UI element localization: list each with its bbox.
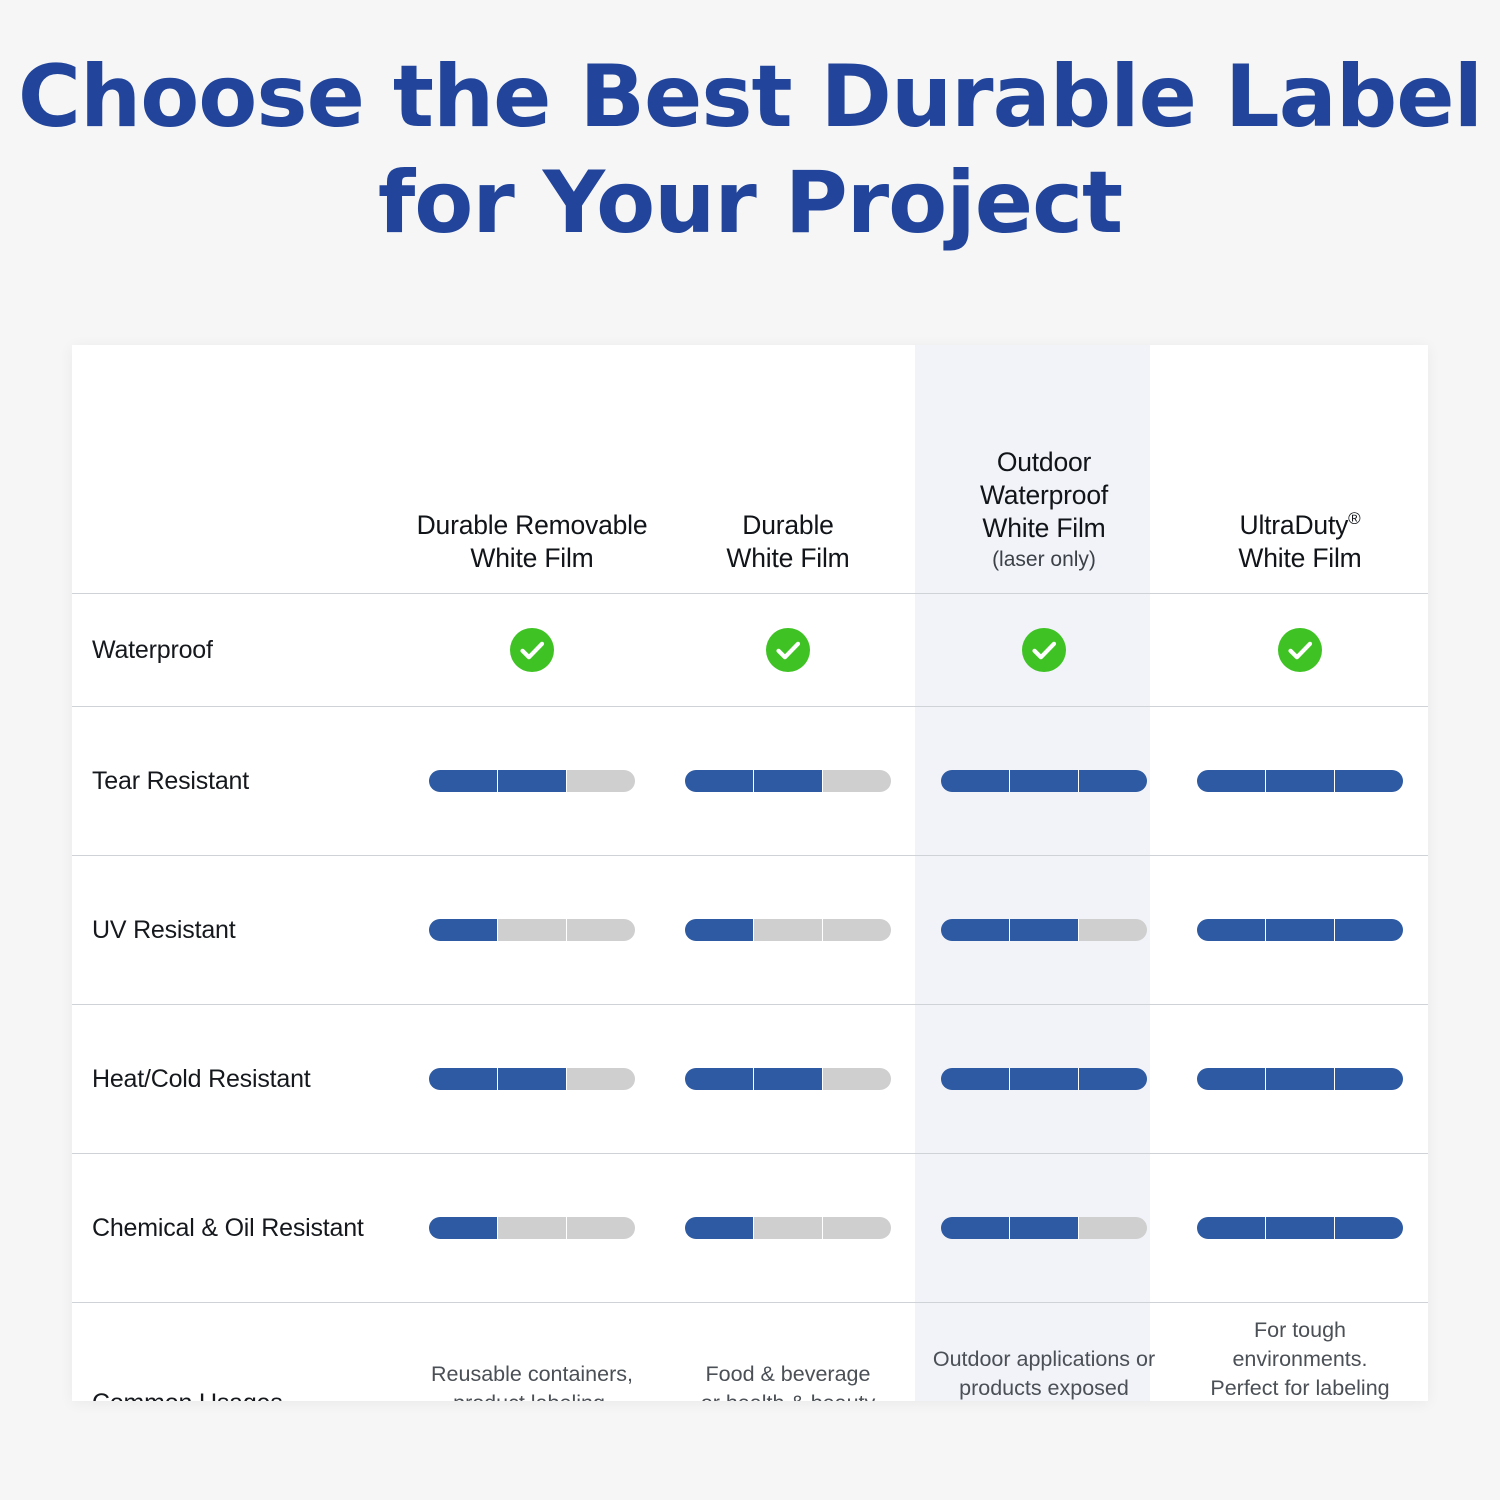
comparison-infographic: Choose the Best Durable Label for Your P… bbox=[0, 0, 1500, 1500]
column-header-line-2: White Film bbox=[404, 542, 660, 575]
row-label: Heat/Cold Resistant bbox=[72, 1005, 404, 1154]
cell-tear-col4 bbox=[1172, 707, 1428, 856]
rating-segment bbox=[1197, 1068, 1266, 1090]
cell-usage-col4: For tough environments.Perfect for label… bbox=[1172, 1303, 1428, 1402]
rating-segment bbox=[1010, 1217, 1079, 1239]
check-icon bbox=[1278, 628, 1322, 672]
rating-segment bbox=[429, 1217, 498, 1239]
column-header-line-2: White Film bbox=[1172, 542, 1428, 575]
rating-segment bbox=[1079, 1217, 1147, 1239]
rating-bar bbox=[1197, 1217, 1403, 1239]
rating-segment bbox=[823, 1217, 891, 1239]
check-icon bbox=[766, 628, 810, 672]
rating-segment bbox=[498, 1068, 567, 1090]
cell-usage-col1: Reusable containers,product labeling,and… bbox=[404, 1303, 660, 1402]
rating-segment bbox=[823, 770, 891, 792]
rating-segment bbox=[1266, 919, 1335, 941]
column-header-line-3: White Film bbox=[916, 512, 1172, 545]
page-title: Choose the Best Durable Label for Your P… bbox=[0, 44, 1500, 256]
usage-text: Reusable containers,product labeling,and… bbox=[404, 1360, 660, 1402]
page-title-line-1: Choose the Best Durable Label bbox=[0, 44, 1500, 150]
rating-segment bbox=[1010, 770, 1079, 792]
cell-tear-col1 bbox=[404, 707, 660, 856]
rating-segment bbox=[1079, 919, 1147, 941]
page-title-line-2: for Your Project bbox=[0, 150, 1500, 256]
rating-segment bbox=[823, 919, 891, 941]
cell-heat-col4 bbox=[1172, 1005, 1428, 1154]
rating-segment bbox=[429, 919, 498, 941]
rating-segment bbox=[498, 1217, 567, 1239]
rating-segment bbox=[429, 770, 498, 792]
rating-segment bbox=[941, 919, 1010, 941]
rating-segment bbox=[941, 1068, 1010, 1090]
column-header-line-2: White Film bbox=[660, 542, 916, 575]
rating-segment bbox=[1010, 919, 1079, 941]
cell-uv-col2 bbox=[660, 856, 916, 1005]
rating-segment bbox=[941, 770, 1010, 792]
cell-uv-col3 bbox=[916, 856, 1172, 1005]
cell-waterproof-col4 bbox=[1172, 594, 1428, 707]
rating-bar bbox=[685, 1068, 891, 1090]
rating-bar bbox=[429, 770, 635, 792]
rating-segment bbox=[1335, 919, 1403, 941]
rating-segment bbox=[685, 1217, 754, 1239]
rating-segment bbox=[823, 1068, 891, 1090]
rating-segment bbox=[1079, 770, 1147, 792]
row-label: Common Usages bbox=[72, 1303, 404, 1402]
column-header-line-1: Outdoor bbox=[916, 446, 1172, 479]
cell-heat-col1 bbox=[404, 1005, 660, 1154]
row-label: UV Resistant bbox=[72, 856, 404, 1005]
rating-segment bbox=[1335, 1217, 1403, 1239]
cell-heat-col3 bbox=[916, 1005, 1172, 1154]
cell-chem-col4 bbox=[1172, 1154, 1428, 1303]
rating-segment bbox=[1197, 1217, 1266, 1239]
cell-usage-col3: Outdoor applications orproducts exposedt… bbox=[916, 1303, 1172, 1402]
comparison-table-card: Durable Removable White Film Durable Whi… bbox=[72, 345, 1428, 1401]
check-icon bbox=[1022, 628, 1066, 672]
cell-chem-col3 bbox=[916, 1154, 1172, 1303]
rating-segment bbox=[754, 770, 823, 792]
rating-bar bbox=[941, 1217, 1147, 1239]
rating-segment bbox=[685, 1068, 754, 1090]
rating-bar bbox=[685, 1217, 891, 1239]
header-corner-cell bbox=[72, 345, 404, 594]
rating-bar bbox=[1197, 1068, 1403, 1090]
table-row-chemical-oil-resistant: Chemical & Oil Resistant bbox=[72, 1154, 1428, 1303]
rating-segment bbox=[754, 1217, 823, 1239]
column-header-line-2: Waterproof bbox=[916, 479, 1172, 512]
column-header-durable-removable-white-film: Durable Removable White Film bbox=[404, 345, 660, 594]
usage-text: Food & beverageor health & beautyproduct… bbox=[660, 1360, 916, 1402]
cell-waterproof-col2 bbox=[660, 594, 916, 707]
table-row-common-usages: Common Usages Reusable containers,produc… bbox=[72, 1303, 1428, 1402]
cell-uv-col4 bbox=[1172, 856, 1428, 1005]
row-label: Chemical & Oil Resistant bbox=[72, 1154, 404, 1303]
row-label: Tear Resistant bbox=[72, 707, 404, 856]
rating-segment bbox=[429, 1068, 498, 1090]
rating-segment bbox=[754, 919, 823, 941]
rating-segment bbox=[1335, 1068, 1403, 1090]
registered-trademark-icon: ® bbox=[1348, 509, 1360, 528]
rating-bar bbox=[941, 1068, 1147, 1090]
cell-uv-col1 bbox=[404, 856, 660, 1005]
rating-segment bbox=[498, 770, 567, 792]
rating-bar bbox=[1197, 770, 1403, 792]
rating-segment bbox=[1197, 919, 1266, 941]
rating-segment bbox=[685, 919, 754, 941]
rating-segment bbox=[1266, 1068, 1335, 1090]
comparison-table: Durable Removable White Film Durable Whi… bbox=[72, 345, 1428, 1401]
rating-segment bbox=[685, 770, 754, 792]
column-header-outdoor-waterproof-white-film: Outdoor Waterproof White Film (laser onl… bbox=[916, 345, 1172, 594]
column-header-line-1: Durable Removable bbox=[404, 509, 660, 542]
rating-segment bbox=[1010, 1068, 1079, 1090]
rating-segment bbox=[1335, 770, 1403, 792]
table-row-waterproof: Waterproof bbox=[72, 594, 1428, 707]
cell-tear-col2 bbox=[660, 707, 916, 856]
cell-heat-col2 bbox=[660, 1005, 916, 1154]
table-row-uv-resistant: UV Resistant bbox=[72, 856, 1428, 1005]
rating-segment bbox=[567, 919, 635, 941]
table-header-row: Durable Removable White Film Durable Whi… bbox=[72, 345, 1428, 594]
rating-bar bbox=[685, 770, 891, 792]
column-header-ultraduty-white-film: UltraDuty® White Film bbox=[1172, 345, 1428, 594]
usage-text: Outdoor applications orproducts exposedt… bbox=[916, 1345, 1172, 1401]
check-icon bbox=[510, 628, 554, 672]
cell-chem-col2 bbox=[660, 1154, 916, 1303]
rating-bar bbox=[429, 1217, 635, 1239]
rating-segment bbox=[1197, 770, 1266, 792]
rating-bar bbox=[941, 919, 1147, 941]
rating-segment bbox=[567, 770, 635, 792]
cell-waterproof-col1 bbox=[404, 594, 660, 707]
cell-usage-col2: Food & beverageor health & beautyproduct… bbox=[660, 1303, 916, 1402]
row-label: Waterproof bbox=[72, 594, 404, 707]
rating-segment bbox=[498, 919, 567, 941]
rating-segment bbox=[1266, 770, 1335, 792]
rating-segment bbox=[754, 1068, 823, 1090]
column-header-durable-white-film: Durable White Film bbox=[660, 345, 916, 594]
column-header-brand: UltraDuty bbox=[1240, 510, 1349, 540]
table-row-tear-resistant: Tear Resistant bbox=[72, 707, 1428, 856]
rating-bar bbox=[1197, 919, 1403, 941]
rating-segment bbox=[567, 1068, 635, 1090]
usage-text: For tough environments.Perfect for label… bbox=[1172, 1316, 1428, 1401]
column-header-line-1: UltraDuty® bbox=[1172, 509, 1428, 542]
rating-bar bbox=[941, 770, 1147, 792]
rating-segment bbox=[1266, 1217, 1335, 1239]
rating-segment bbox=[567, 1217, 635, 1239]
cell-tear-col3 bbox=[916, 707, 1172, 856]
rating-bar bbox=[685, 919, 891, 941]
rating-segment bbox=[941, 1217, 1010, 1239]
rating-bar bbox=[429, 919, 635, 941]
rating-segment bbox=[1079, 1068, 1147, 1090]
table-row-heat-cold-resistant: Heat/Cold Resistant bbox=[72, 1005, 1428, 1154]
cell-chem-col1 bbox=[404, 1154, 660, 1303]
cell-waterproof-col3 bbox=[916, 594, 1172, 707]
column-header-subtitle: (laser only) bbox=[916, 545, 1172, 575]
rating-bar bbox=[429, 1068, 635, 1090]
column-header-line-1: Durable bbox=[660, 509, 916, 542]
